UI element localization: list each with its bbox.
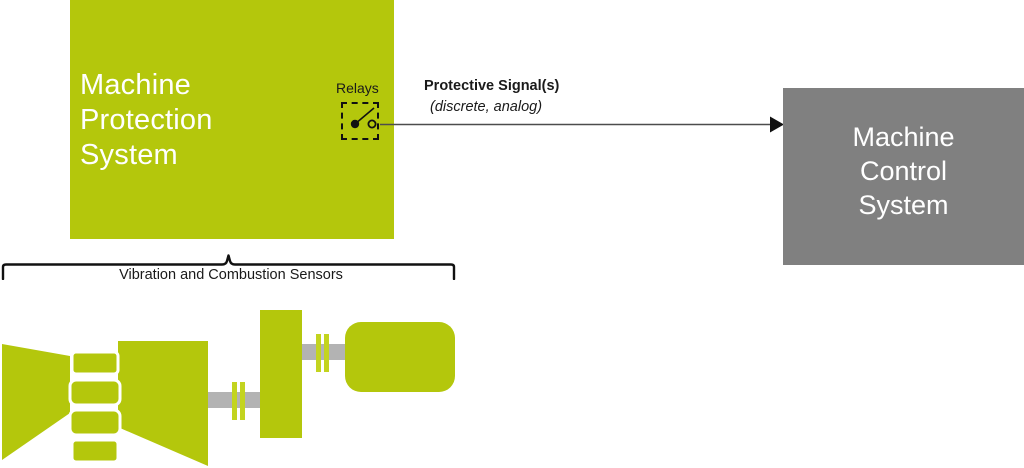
turbine-stage-2: [70, 380, 120, 405]
coupling-1-bar-b: [240, 382, 245, 420]
sensors-brace-label: Vibration and Combustion Sensors: [0, 267, 462, 283]
turbine-stage-3: [70, 410, 120, 435]
diagram-canvas: Machine Protection System Relays Protect…: [0, 0, 1024, 468]
protective-signal-title: Protective Signal(s): [424, 78, 559, 94]
coupling-2-bar-a: [316, 334, 321, 372]
generator: [345, 322, 455, 392]
coupling-1-bar-a: [232, 382, 237, 420]
coupling-2-bar-b: [324, 334, 329, 372]
turbine-body: [2, 344, 70, 460]
machine-train-illustration: [0, 300, 480, 468]
relays-label: Relays: [336, 80, 379, 96]
machine-control-system-label: Machine Control System: [783, 120, 1024, 222]
turbine-outer-right: [120, 341, 208, 466]
gearbox: [260, 310, 302, 438]
machine-protection-system-label: Machine Protection System: [80, 68, 320, 173]
turbine-stage-4: [72, 440, 118, 462]
protective-signal-subtitle: (discrete, analog): [430, 99, 542, 115]
protective-signal-arrow: [380, 112, 790, 138]
turbine-stage-1: [72, 352, 118, 374]
